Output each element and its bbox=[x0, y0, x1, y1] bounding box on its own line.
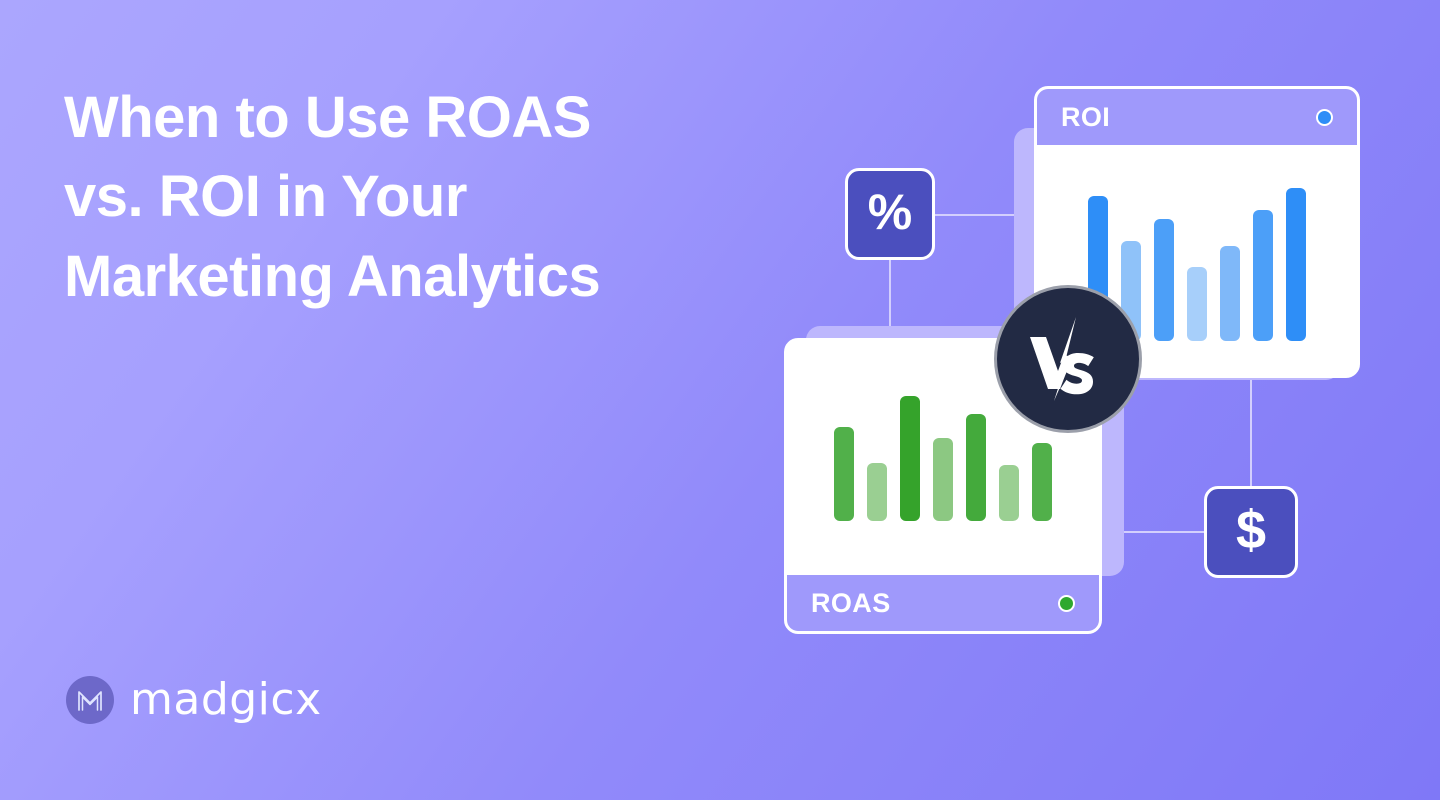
brand-wordmark: madgicx bbox=[130, 678, 322, 722]
madgicx-m-monogram-icon bbox=[66, 676, 114, 724]
bar bbox=[966, 414, 986, 521]
bar bbox=[999, 465, 1019, 521]
versus-lightning-icon bbox=[1020, 311, 1116, 407]
percent-badge[interactable]: % bbox=[845, 168, 935, 260]
bar bbox=[1286, 188, 1306, 341]
bar bbox=[1187, 267, 1207, 341]
bar bbox=[900, 396, 920, 521]
banner-root: When to Use ROAS vs. ROI in Your Marketi… bbox=[0, 0, 1440, 800]
dollar-icon: $ bbox=[1236, 503, 1266, 557]
roi-card-header: ROI bbox=[1037, 89, 1357, 145]
bar bbox=[867, 463, 887, 522]
roas-card-footer: ROAS bbox=[787, 575, 1099, 631]
brand-logo[interactable]: madgicx bbox=[66, 676, 322, 724]
bar bbox=[1154, 219, 1174, 341]
connector-roi-to-dollar bbox=[1250, 378, 1252, 488]
roi-card-label: ROI bbox=[1061, 102, 1110, 133]
dollar-badge[interactable]: $ bbox=[1204, 486, 1298, 578]
roas-card-label: ROAS bbox=[811, 588, 891, 619]
versus-badge bbox=[994, 285, 1142, 433]
m-monogram-glyph bbox=[73, 683, 107, 717]
bar bbox=[933, 438, 953, 521]
roi-status-dot bbox=[1316, 109, 1333, 126]
roas-status-dot bbox=[1058, 595, 1075, 612]
bar bbox=[834, 427, 854, 522]
percent-icon: % bbox=[868, 187, 912, 237]
bar bbox=[1032, 443, 1052, 521]
bar bbox=[1253, 210, 1273, 341]
bar bbox=[1220, 246, 1240, 341]
